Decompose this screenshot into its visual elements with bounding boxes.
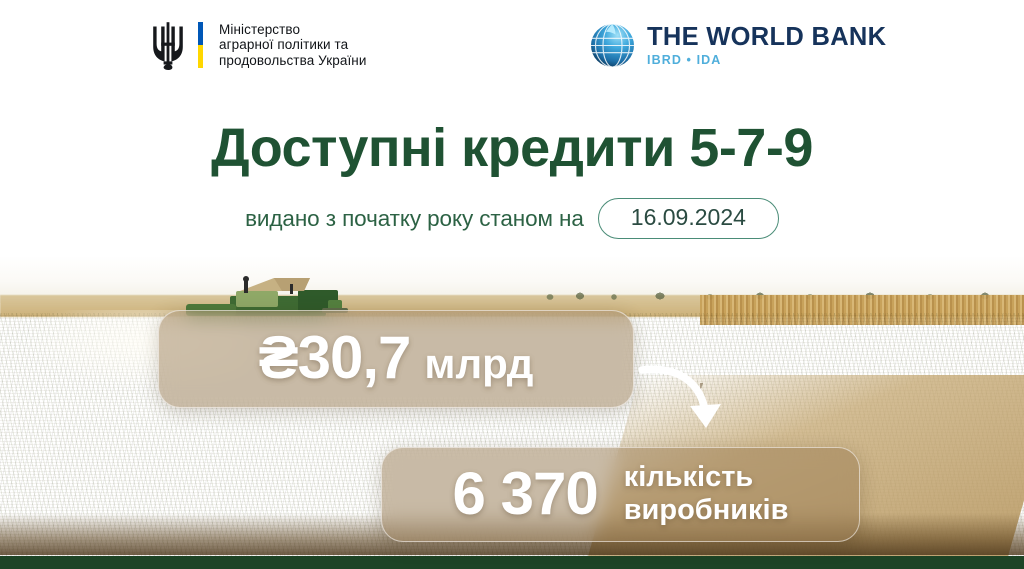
- stat-producers-label-line-1: кількість: [624, 461, 754, 493]
- world-bank-logo-lockup: THE WORLD BANK IBRD • IDA: [589, 22, 886, 69]
- ministry-logo-lockup: Міністерство аграрної політики та продов…: [150, 20, 367, 70]
- stat-card-producers: 6 370 кількість виробників: [381, 447, 860, 542]
- ministry-name-line-1: Міністерство: [219, 22, 367, 38]
- bottom-green-bar: [0, 556, 1024, 569]
- subtitle-row: видано з початку року станом на 16.09.20…: [0, 198, 1024, 239]
- stat-amount-inner: ₴30,7 млрд: [259, 328, 534, 388]
- title-block: Доступні кредити 5-7-9 видано з початку …: [0, 100, 1024, 257]
- ministry-name-line-3: продовольства України: [219, 53, 367, 69]
- world-bank-sub: IBRD • IDA: [647, 54, 886, 67]
- header-bar: Міністерство аграрної політики та продов…: [0, 0, 1024, 100]
- stat-amount-unit: млрд: [424, 343, 533, 385]
- subtitle-text: видано з початку року станом на: [245, 206, 584, 232]
- world-bank-text-block: THE WORLD BANK IBRD • IDA: [647, 25, 886, 66]
- report-date-badge: 16.09.2024: [598, 198, 779, 239]
- curved-down-right-arrow-icon: [636, 362, 732, 442]
- stat-amount-value: ₴30,7: [259, 328, 411, 388]
- world-bank-globe-icon: [589, 22, 636, 69]
- stat-producers-value: 6 370: [453, 464, 598, 524]
- world-bank-name: THE WORLD BANK: [647, 25, 886, 51]
- infographic-page: Міністерство аграрної політики та продов…: [0, 0, 1024, 569]
- ukraine-flag-divider-icon: [198, 22, 203, 68]
- stat-producers-label-line-2: виробників: [624, 494, 789, 526]
- stat-card-amount: ₴30,7 млрд: [158, 310, 634, 408]
- ukraine-trident-icon: [150, 20, 186, 70]
- stat-producers-label: кількість виробників: [624, 461, 789, 527]
- page-title: Доступні кредити 5-7-9: [0, 100, 1024, 180]
- ministry-name-text: Міністерство аграрної політики та продов…: [219, 22, 367, 69]
- ministry-name-line-2: аграрної політики та: [219, 37, 367, 53]
